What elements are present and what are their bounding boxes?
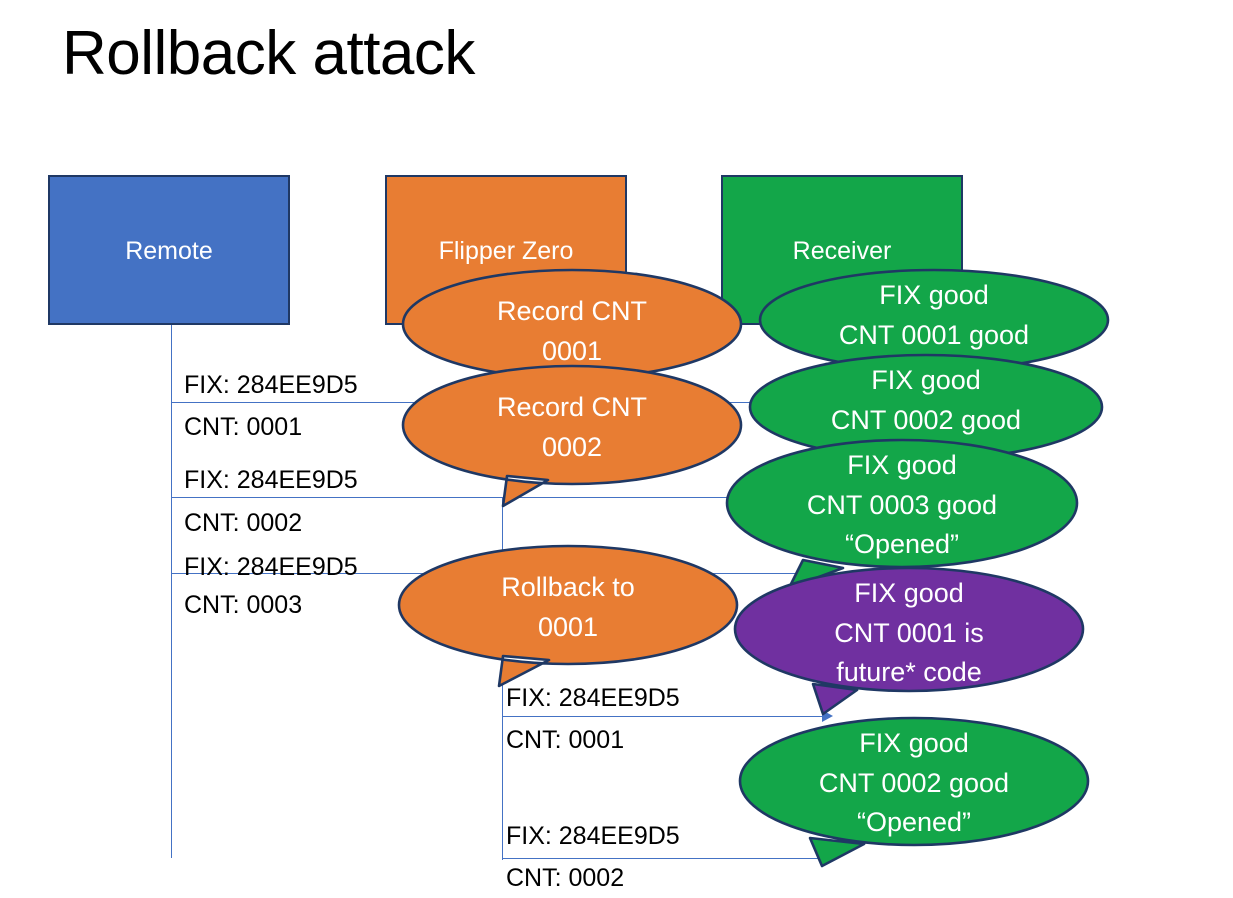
actor-label-remote: Remote <box>125 237 213 266</box>
actor-label-flipper: Flipper Zero <box>439 237 574 266</box>
slide-canvas: Rollback attack Remote Flipper Zero Rece… <box>0 0 1233 898</box>
message-label-m1-cnt: CNT: 0001 <box>184 413 302 442</box>
message-label-m5-cnt: CNT: 0002 <box>506 864 624 893</box>
message-label-m3-cnt: CNT: 0003 <box>184 591 302 620</box>
callout-shape <box>403 366 741 506</box>
callout-receiver-cnt-0001-future[interactable]: FIX good CNT 0001 is future* code <box>735 568 1083 691</box>
message-label-m2-cnt: CNT: 0002 <box>184 509 302 538</box>
message-label-m1-fix: FIX: 284EE9D5 <box>184 371 358 400</box>
callout-flipper-rollback-0001[interactable]: Rollback to 0001 <box>399 546 737 664</box>
callout-receiver-cnt-0003-opened[interactable]: FIX good CNT 0003 good “Opened” <box>727 440 1077 567</box>
message-label-m4-fix: FIX: 284EE9D5 <box>506 684 680 713</box>
message-label-m2-fix: FIX: 284EE9D5 <box>184 466 358 495</box>
page-title: Rollback attack <box>62 9 962 99</box>
lifeline-remote <box>171 325 172 858</box>
message-label-m5-fix: FIX: 284EE9D5 <box>506 822 680 851</box>
actor-box-remote[interactable]: Remote <box>48 175 290 325</box>
callout-shape <box>399 546 737 686</box>
message-label-m3-fix: FIX: 284EE9D5 <box>184 553 358 582</box>
message-label-m4-cnt: CNT: 0001 <box>506 726 624 755</box>
actor-label-receiver: Receiver <box>793 237 892 266</box>
callout-shape <box>740 718 1088 868</box>
callout-flipper-record-0002[interactable]: Record CNT 0002 <box>403 366 741 484</box>
callout-shape <box>735 568 1083 714</box>
message-line-m4 <box>502 716 824 717</box>
callout-flipper-record-0001[interactable]: Record CNT 0001 <box>403 270 741 378</box>
callout-receiver-cnt-0002-opened[interactable]: FIX good CNT 0002 good “Opened” <box>740 718 1088 845</box>
